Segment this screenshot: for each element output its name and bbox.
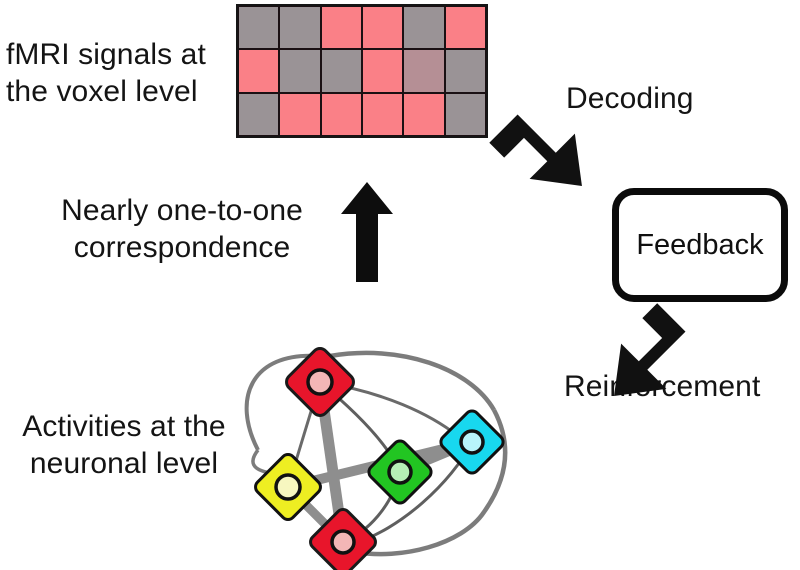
voxel-cell-r1-c2 [279,6,320,49]
voxel-cell-r3-c6 [445,93,486,136]
node-yellow-left [253,452,324,523]
voxel-cell-r2-c3 [321,49,362,92]
voxel-cell-r3-c2 [279,93,320,136]
node-red-top [283,345,357,419]
voxel-cell-r2-c2 [279,49,320,92]
correspondence-label: Nearly one-to-one correspondence [22,192,342,266]
feedback-label: Feedback [636,229,763,262]
decoding-label: Decoding [566,80,694,117]
voxel-cell-r2-c1 [238,49,279,92]
voxel-cell-r1-c5 [403,6,444,49]
feedback-box: Feedback [612,188,788,302]
voxel-cell-r1-c6 [445,6,486,49]
voxel-cell-r1-c4 [362,6,403,49]
fmri-signals-label: fMRI signals at the voxel level [6,36,236,110]
voxel-cell-r3-c4 [362,93,403,136]
reinforcement-label: Reinforcement [564,368,760,405]
voxel-cell-r3-c5 [403,93,444,136]
voxel-cell-r1-c3 [321,6,362,49]
diagram-canvas: fMRI signals at the voxel level Nearly o… [0,0,800,570]
correspondence-arrow [341,182,393,282]
voxel-cell-r1-c1 [238,6,279,49]
neuronal-activities-label: Activities at the neuronal level [4,408,244,482]
neuronal-network [247,345,506,570]
voxel-cell-r2-c4 [362,49,403,92]
voxel-cell-r2-c5 [403,49,444,92]
voxel-activation-grid [236,4,488,138]
node-green-center [366,438,434,506]
voxel-cell-r2-c6 [445,49,486,92]
voxel-cell-r3-c3 [321,93,362,136]
node-cyan-right [438,408,506,476]
node-red-bottom [308,507,379,570]
voxel-cell-r3-c1 [238,93,279,136]
